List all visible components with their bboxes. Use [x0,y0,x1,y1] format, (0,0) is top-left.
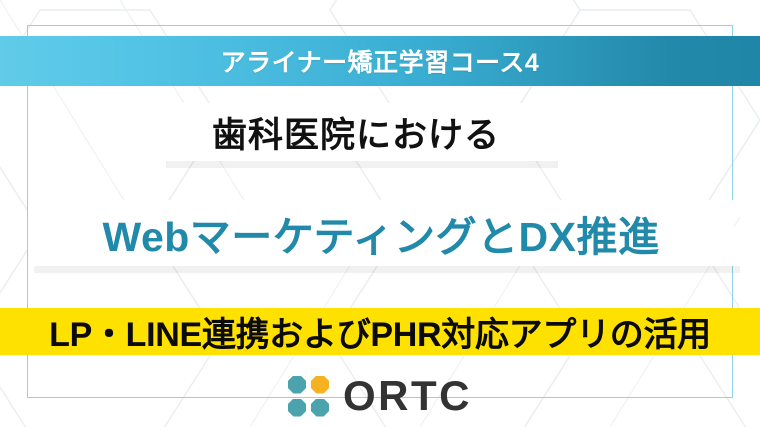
octagon-tile-bottom-right-icon [311,399,329,417]
course-banner: アライナー矯正学習コース4 [0,36,760,86]
octagon-tile-bottom-left-icon [288,399,306,417]
logo-wordmark: ORTC [343,375,472,417]
headline-secondary-text: WebマーケティングとDX推進 [103,203,660,263]
octagon-tile-top-right-icon [311,376,329,394]
brand-logo: ORTC [0,367,760,425]
subtitle-highlight-text: LP・LINE連携およびPHR対応アプリの活用 [49,307,711,356]
headline-primary-card: 歯科医院における [160,103,552,161]
subtitle-highlight-band: LP・LINE連携およびPHR対応アプリの活用 [0,308,760,355]
headline-primary-text: 歯科医院における [212,107,500,158]
presentation-slide: アライナー矯正学習コース4 歯科医院における WebマーケティングとDX推進 L… [0,0,760,427]
course-banner-label: アライナー矯正学習コース4 [221,43,540,79]
octagon-tile-top-left-icon [288,376,306,394]
logo-mark-icon [288,376,329,417]
headline-secondary-card: WebマーケティングとDX推進 [28,200,734,266]
